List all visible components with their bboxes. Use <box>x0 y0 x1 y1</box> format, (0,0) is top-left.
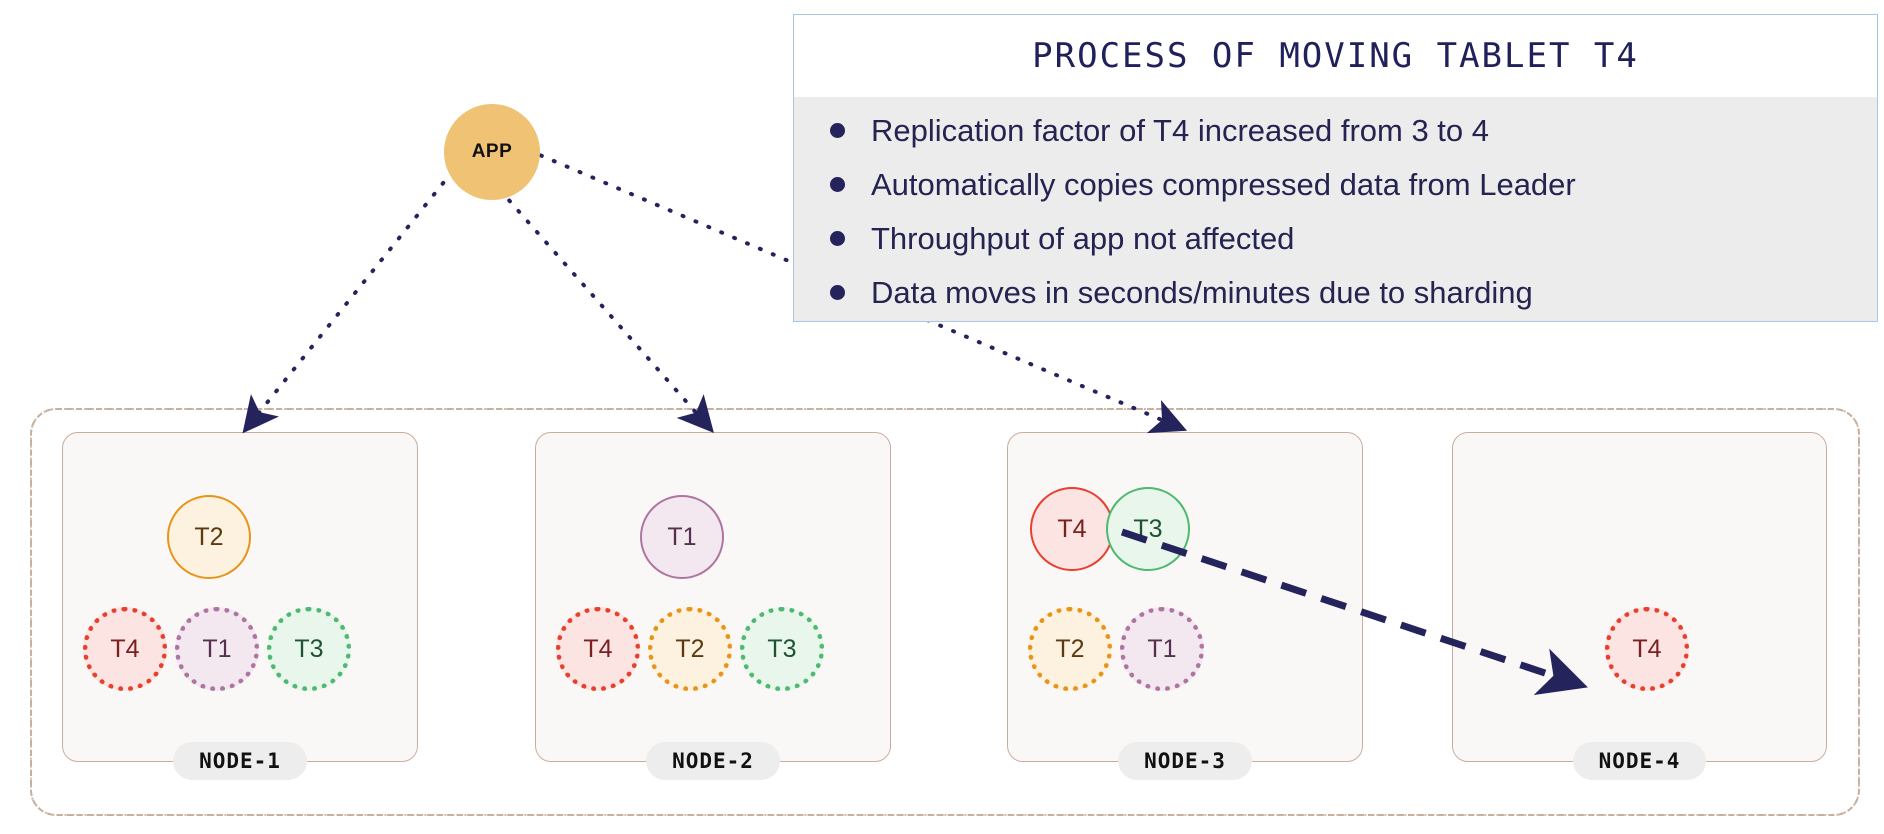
callout-bullet-item: Throughput of app not affected <box>830 211 1877 265</box>
bullet-dot-icon <box>830 123 845 138</box>
callout-bullet-text: Data moves in seconds/minutes due to sha… <box>871 277 1533 308</box>
node-box-1[interactable]: NODE-1 T2T4T1T3 <box>62 432 418 762</box>
tablet-label: T4 <box>1057 515 1086 544</box>
tablet-label: T1 <box>667 523 696 552</box>
tablet-label: T2 <box>1055 635 1084 664</box>
tablet-follower-t2[interactable]: T2 <box>648 607 732 691</box>
tablet-label: T2 <box>675 635 704 664</box>
app-node-label: APP <box>472 141 513 163</box>
tablet-label: T2 <box>194 523 223 552</box>
node-label: NODE-1 <box>173 742 307 780</box>
diagram-canvas: APP PROCESS OF MOVING TABLET T4 Replicat… <box>0 0 1884 834</box>
callout-header: PROCESS OF MOVING TABLET T4 <box>794 15 1877 97</box>
tablet-label: T1 <box>202 635 231 664</box>
callout-title: PROCESS OF MOVING TABLET T4 <box>1032 36 1639 76</box>
tablet-follower-t1[interactable]: T1 <box>1120 607 1204 691</box>
node-label: NODE-3 <box>1118 742 1252 780</box>
tablet-label: T3 <box>1133 515 1162 544</box>
tablet-follower-t2[interactable]: T2 <box>1028 607 1112 691</box>
bullet-dot-icon <box>830 285 845 300</box>
callout-bullet-list: Replication factor of T4 increased from … <box>794 97 1877 319</box>
callout-bullet-item: Automatically copies compressed data fro… <box>830 157 1877 211</box>
tablet-follower-t3[interactable]: T3 <box>740 607 824 691</box>
tablet-leader-t3[interactable]: T3 <box>1106 487 1190 571</box>
arrow-app-to-node2 <box>500 190 706 424</box>
callout-bullet-item: Replication factor of T4 increased from … <box>830 103 1877 157</box>
callout-bullet-item: Data moves in seconds/minutes due to sha… <box>830 265 1877 319</box>
tablet-label: T4 <box>1632 635 1661 664</box>
tablet-follower-t4[interactable]: T4 <box>1605 607 1689 691</box>
tablet-label: T3 <box>294 635 323 664</box>
bullet-dot-icon <box>830 231 845 246</box>
callout-bullet-text: Automatically copies compressed data fro… <box>871 169 1576 200</box>
node-label: NODE-4 <box>1573 742 1707 780</box>
tablet-follower-t4[interactable]: T4 <box>83 607 167 691</box>
node-box-4[interactable]: NODE-4 T4 <box>1452 432 1827 762</box>
node-label: NODE-2 <box>646 742 780 780</box>
tablet-label: T1 <box>1147 635 1176 664</box>
tablet-leader-t4[interactable]: T4 <box>1030 487 1114 571</box>
arrow-app-to-node1 <box>250 172 452 424</box>
tablet-leader-t1[interactable]: T1 <box>640 495 724 579</box>
callout-bullet-text: Throughput of app not affected <box>871 223 1294 254</box>
bullet-dot-icon <box>830 177 845 192</box>
tablet-label: T4 <box>110 635 139 664</box>
tablet-leader-t2[interactable]: T2 <box>167 495 251 579</box>
node-box-3[interactable]: NODE-3 T4T3T2T1 <box>1007 432 1363 762</box>
tablet-follower-t3[interactable]: T3 <box>267 607 351 691</box>
tablet-follower-t4[interactable]: T4 <box>556 607 640 691</box>
node-box-2[interactable]: NODE-2 T1T4T2T3 <box>535 432 891 762</box>
tablet-follower-t1[interactable]: T1 <box>175 607 259 691</box>
app-node[interactable]: APP <box>444 104 540 200</box>
callout-bullet-text: Replication factor of T4 increased from … <box>871 115 1489 146</box>
tablet-label: T3 <box>767 635 796 664</box>
tablet-label: T4 <box>583 635 612 664</box>
callout-box: PROCESS OF MOVING TABLET T4 Replication … <box>793 14 1878 322</box>
